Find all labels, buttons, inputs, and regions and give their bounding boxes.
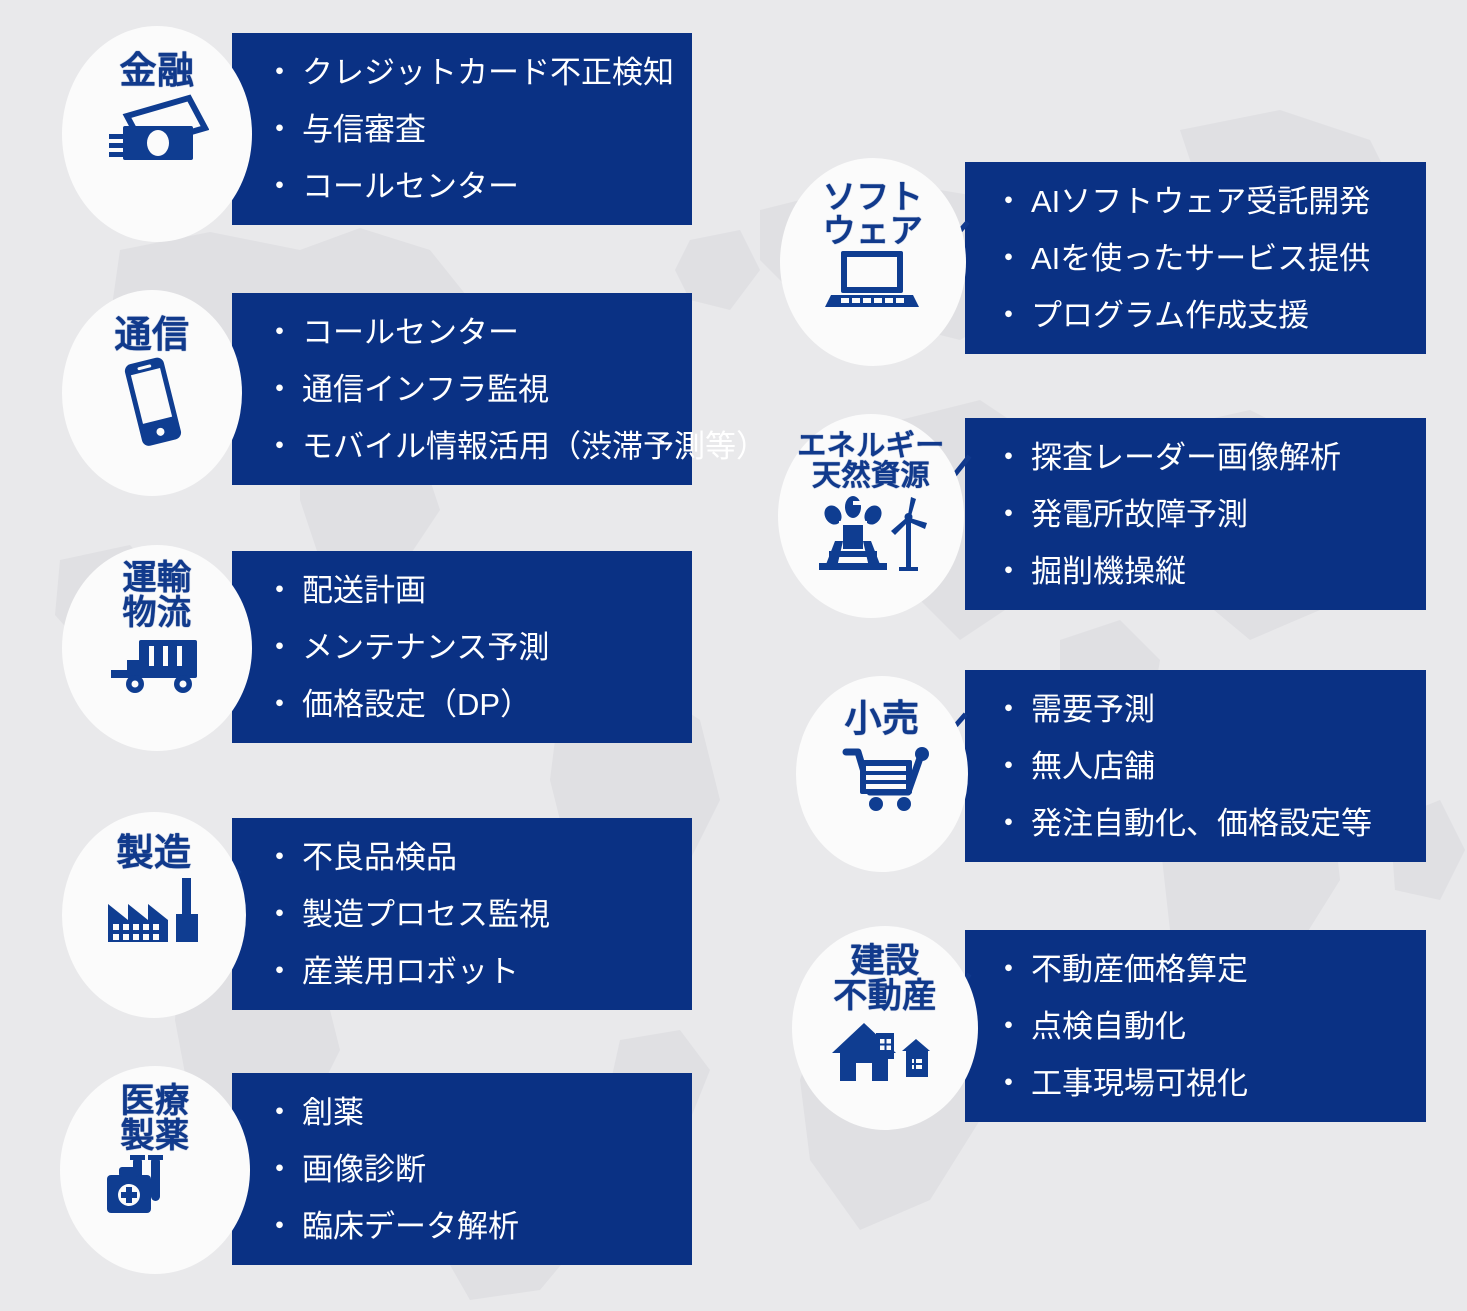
item-label: AIを使ったサービス提供 xyxy=(1031,243,1370,274)
bubble-software[interactable]: ソフト ウェア xyxy=(780,158,966,366)
list-item: ・不動産価格算定 xyxy=(991,954,1426,985)
bubble-energy[interactable]: エネルギー 天然資源 xyxy=(778,414,964,618)
item-label: 産業用ロボット xyxy=(302,956,519,987)
item-label: AIソフトウェア受託開発 xyxy=(1031,186,1370,217)
bullet-icon: ・ xyxy=(264,575,295,606)
bullet-icon: ・ xyxy=(993,243,1024,274)
list-item: ・AIソフトウェア受託開発 xyxy=(991,186,1426,217)
bubble-label-medical: 医療 製薬 xyxy=(121,1084,190,1153)
item-label: 不動産価格算定 xyxy=(1031,954,1248,985)
item-label: コールセンター xyxy=(302,171,519,202)
bubble-label-telecom: 通信 xyxy=(115,316,190,354)
item-label: 工事現場可視化 xyxy=(1031,1068,1248,1099)
list-item: ・工事現場可視化 xyxy=(991,1068,1426,1099)
item-label: モバイル情報活用（渋滞予測等） xyxy=(302,431,767,462)
panel-transport: ・配送計画 ・メンテナンス予測 ・価格設定（DP） xyxy=(232,551,692,743)
panel-software: ・AIソフトウェア受託開発 ・AIを使ったサービス提供 ・プログラム作成支援 xyxy=(965,162,1426,354)
bullet-icon: ・ xyxy=(264,899,295,930)
factory-icon xyxy=(102,874,206,946)
item-label: プログラム作成支援 xyxy=(1031,300,1309,331)
list-item: ・価格設定（DP） xyxy=(262,689,692,720)
bullet-icon: ・ xyxy=(993,751,1024,782)
list-item: ・コールセンター xyxy=(262,171,692,202)
panel-energy: ・探査レーダー画像解析 ・発電所故障予測 ・掘削機操縦 xyxy=(965,418,1426,610)
panel-medical: ・創薬 ・画像診断 ・臨床データ解析 xyxy=(232,1073,692,1265)
bullet-icon: ・ xyxy=(264,374,295,405)
list-item: ・プログラム作成支援 xyxy=(991,300,1426,331)
bullet-icon: ・ xyxy=(993,954,1024,985)
panel-construction: ・不動産価格算定 ・点検自動化 ・工事現場可視化 xyxy=(965,930,1426,1122)
list-item: ・点検自動化 xyxy=(991,1011,1426,1042)
panel-retail: ・需要予測 ・無人店舗 ・発注自動化、価格設定等 xyxy=(965,670,1426,862)
bullet-icon: ・ xyxy=(993,1068,1024,1099)
list-item: ・AIを使ったサービス提供 xyxy=(991,243,1426,274)
bubble-finance[interactable]: 金融 xyxy=(62,26,252,242)
smartphone-icon xyxy=(117,356,187,448)
item-label: 配送計画 xyxy=(302,575,426,606)
list-item: ・クレジットカード不正検知 xyxy=(262,57,692,88)
bubble-label-finance: 金融 xyxy=(120,52,195,90)
bullet-icon: ・ xyxy=(993,442,1024,473)
item-label: 画像診断 xyxy=(302,1154,426,1185)
bubble-label-construction: 建設 不動産 xyxy=(833,944,937,1013)
bubble-label-retail: 小売 xyxy=(845,700,920,738)
bullet-icon: ・ xyxy=(264,1211,295,1242)
panel-telecom: ・コールセンター ・通信インフラ監視 ・モバイル情報活用（渋滞予測等） xyxy=(232,293,692,485)
list-item: ・発注自動化、価格設定等 xyxy=(991,808,1426,839)
bullet-icon: ・ xyxy=(264,842,295,873)
item-label: 与信審査 xyxy=(302,114,426,145)
bullet-icon: ・ xyxy=(264,57,295,88)
bullet-icon: ・ xyxy=(993,556,1024,587)
list-item: ・産業用ロボット xyxy=(262,956,692,987)
list-item: ・与信審査 xyxy=(262,114,692,145)
bullet-icon: ・ xyxy=(993,499,1024,530)
item-label: 発電所故障予測 xyxy=(1031,499,1248,530)
list-item: ・メンテナンス予測 xyxy=(262,632,692,663)
banknotes-coins-icon xyxy=(105,92,209,166)
bubble-label-transport: 運輸 物流 xyxy=(123,561,192,630)
list-item: ・モバイル情報活用（渋滞予測等） xyxy=(262,431,692,462)
list-item: ・掘削機操縦 xyxy=(991,556,1426,587)
bullet-icon: ・ xyxy=(264,431,295,462)
bullet-icon: ・ xyxy=(264,114,295,145)
list-item: ・無人店舗 xyxy=(991,751,1426,782)
item-label: コールセンター xyxy=(302,317,519,348)
bullet-icon: ・ xyxy=(264,171,295,202)
bullet-icon: ・ xyxy=(264,689,295,720)
item-label: 探査レーダー画像解析 xyxy=(1031,442,1341,473)
list-item: ・画像診断 xyxy=(262,1154,692,1185)
item-label: 発注自動化、価格設定等 xyxy=(1031,808,1372,839)
list-item: ・創薬 xyxy=(262,1097,692,1128)
list-item: ・需要予測 xyxy=(991,694,1426,725)
bullet-icon: ・ xyxy=(993,808,1024,839)
houses-icon xyxy=(830,1015,940,1085)
delivery-truck-icon xyxy=(105,632,209,698)
bullet-icon: ・ xyxy=(264,1154,295,1185)
oil-derrick-wind-turbine-icon xyxy=(815,493,927,571)
item-label: クレジットカード不正検知 xyxy=(302,57,674,88)
bubble-construction[interactable]: 建設 不動産 xyxy=(792,926,978,1130)
item-label: 不良品検品 xyxy=(302,842,457,873)
panel-manufacturing: ・不良品検品 ・製造プロセス監視 ・産業用ロボット xyxy=(232,818,692,1010)
bullet-icon: ・ xyxy=(264,956,295,987)
item-label: 通信インフラ監視 xyxy=(302,374,549,405)
laptop-icon xyxy=(825,249,921,311)
bullet-icon: ・ xyxy=(993,694,1024,725)
item-label: メンテナンス予測 xyxy=(302,632,549,663)
bullet-icon: ・ xyxy=(264,317,295,348)
infographic-stage: ・クレジットカード不正検知 ・与信審査 ・コールセンター 金融 xyxy=(0,0,1467,1311)
bubble-retail[interactable]: 小売 xyxy=(796,676,968,872)
item-label: 価格設定（DP） xyxy=(302,689,531,720)
bullet-icon: ・ xyxy=(993,186,1024,217)
item-label: 創薬 xyxy=(302,1097,364,1128)
shopping-cart-icon xyxy=(834,740,930,812)
item-label: 掘削機操縦 xyxy=(1031,556,1186,587)
list-item: ・通信インフラ監視 xyxy=(262,374,692,405)
bubble-label-energy: エネルギー 天然資源 xyxy=(797,432,945,491)
list-item: ・発電所故障予測 xyxy=(991,499,1426,530)
list-item: ・製造プロセス監視 xyxy=(262,899,692,930)
bullet-icon: ・ xyxy=(264,1097,295,1128)
list-item: ・配送計画 xyxy=(262,575,692,606)
bullet-icon: ・ xyxy=(264,632,295,663)
bullet-icon: ・ xyxy=(993,1011,1024,1042)
item-label: 需要予測 xyxy=(1031,694,1155,725)
list-item: ・臨床データ解析 xyxy=(262,1211,692,1242)
item-label: 点検自動化 xyxy=(1031,1011,1186,1042)
list-item: ・コールセンター xyxy=(262,317,692,348)
bubble-medical[interactable]: 医療 製薬 xyxy=(60,1066,250,1274)
item-label: 無人店舗 xyxy=(1031,751,1155,782)
bubble-telecom[interactable]: 通信 xyxy=(62,290,242,496)
bubble-transport[interactable]: 運輸 物流 xyxy=(62,545,252,751)
item-label: 臨床データ解析 xyxy=(302,1211,519,1242)
list-item: ・不良品検品 xyxy=(262,842,692,873)
bubble-manufacturing[interactable]: 製造 xyxy=(62,812,246,1018)
item-label: 製造プロセス監視 xyxy=(302,899,550,930)
list-item: ・探査レーダー画像解析 xyxy=(991,442,1426,473)
panel-finance: ・クレジットカード不正検知 ・与信審査 ・コールセンター xyxy=(232,33,692,225)
bubble-label-manufacturing: 製造 xyxy=(117,834,192,872)
medical-kit-test-tubes-icon xyxy=(103,1155,207,1225)
bullet-icon: ・ xyxy=(993,300,1024,331)
bubble-label-software: ソフト ウェア xyxy=(823,180,924,247)
